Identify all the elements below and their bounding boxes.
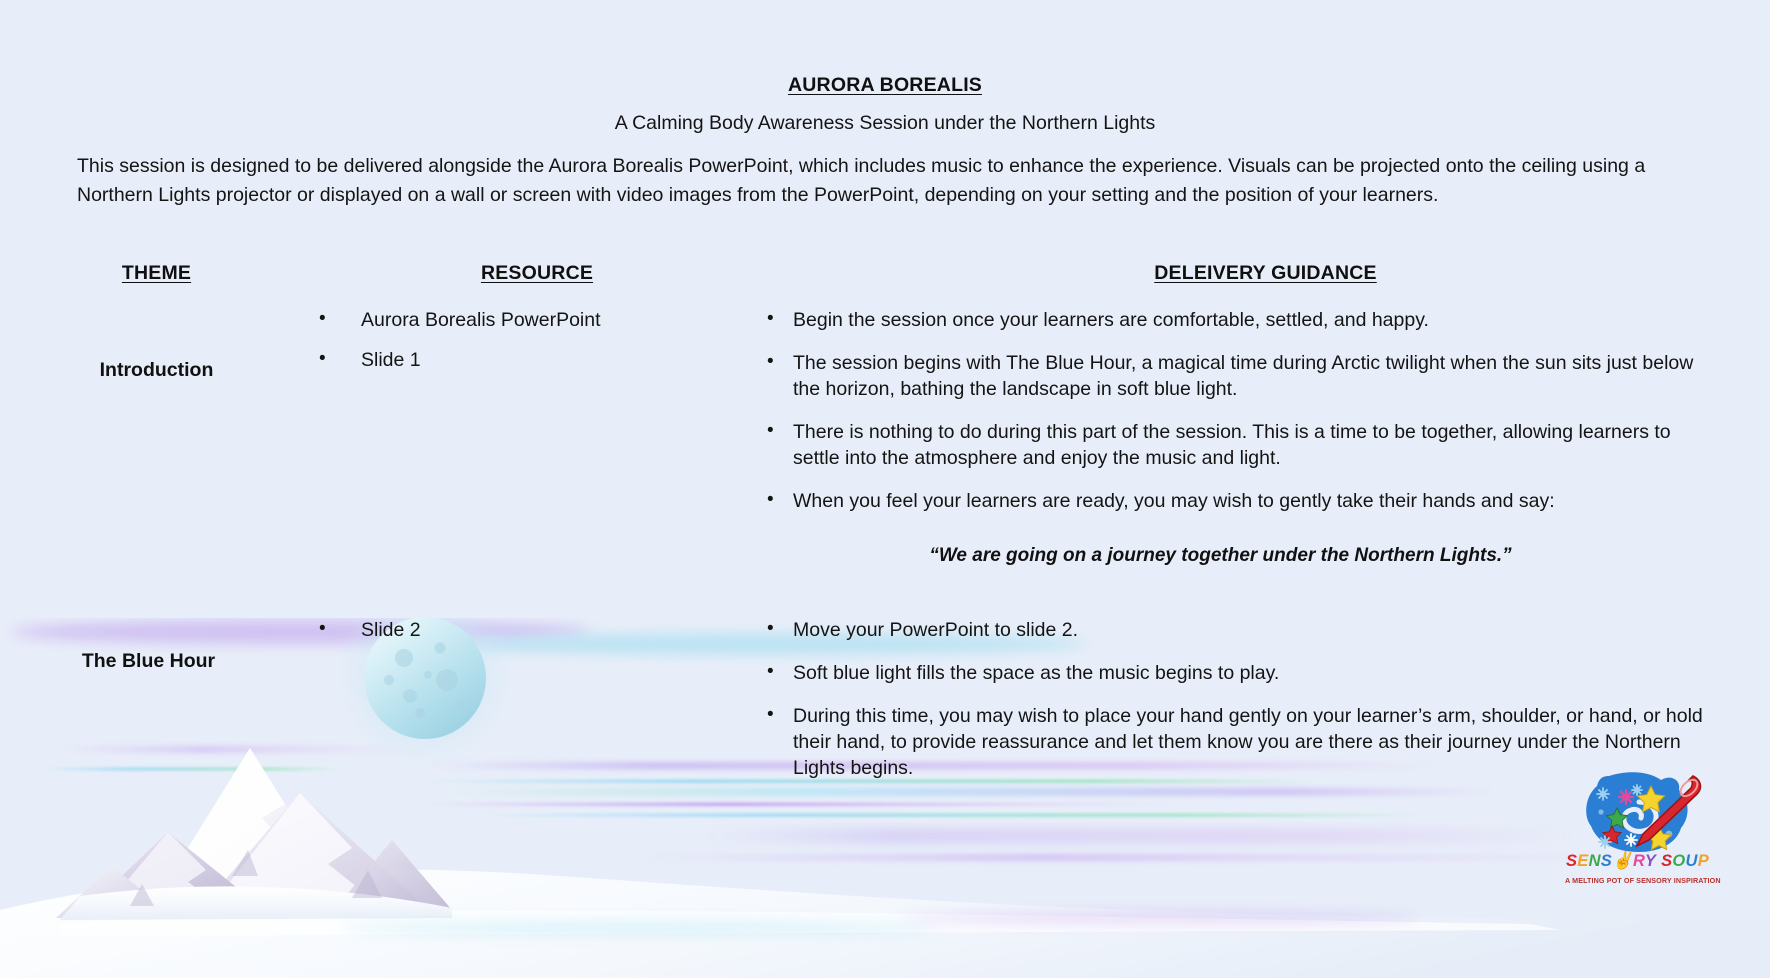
- guidance-cell: Begin the session once your learners are…: [761, 307, 1770, 569]
- session-plan-table: THEME RESOURCE DELEIVERY GUIDANCE Introd…: [0, 262, 1770, 798]
- column-header-theme-text: THEME: [122, 262, 191, 284]
- theme-label: The Blue Hour: [0, 617, 313, 673]
- column-header-guidance-text: DELEIVERY GUIDANCE: [1154, 262, 1376, 284]
- snowflake-b: [1632, 785, 1642, 795]
- list-item: When you feel your learners are ready, y…: [761, 488, 1720, 514]
- list-item: There is nothing to do during this part …: [761, 419, 1720, 471]
- pink-flower-snowflake: [1619, 790, 1633, 804]
- theme-cell: The Blue Hour: [0, 617, 313, 673]
- theme-cell: Introduction: [0, 307, 313, 382]
- resource-cell: Aurora Borealis PowerPoint Slide 1: [313, 307, 761, 387]
- slide-canvas: AURORA BOREALIS A Calming Body Awareness…: [0, 0, 1770, 978]
- column-header-guidance: DELEIVERY GUIDANCE: [761, 262, 1770, 285]
- table-row: Introduction Aurora Borealis PowerPoint …: [0, 307, 1770, 569]
- table-row: The Blue Hour Slide 2 Move your PowerPoi…: [0, 617, 1770, 798]
- soup-pot-icon: [1565, 768, 1710, 856]
- list-item: The session begins with The Blue Hour, a…: [761, 350, 1720, 402]
- logo-tagline: A MELTING POT OF SENSORY INSPIRATION: [1565, 876, 1710, 885]
- list-item: Slide 2: [313, 617, 761, 643]
- list-item: Begin the session once your learners are…: [761, 307, 1720, 333]
- column-header-theme: THEME: [0, 262, 313, 285]
- column-header-resource: RESOURCE: [313, 262, 761, 285]
- table-header-row: THEME RESOURCE DELEIVERY GUIDANCE: [0, 262, 1770, 307]
- snowflake-a: [1597, 788, 1609, 800]
- snowflake-c: [1625, 834, 1637, 846]
- list-item: Slide 1: [313, 347, 761, 373]
- document-title-text: AURORA BOREALIS: [788, 74, 982, 96]
- column-header-resource-text: RESOURCE: [481, 262, 593, 284]
- guidance-list: Begin the session once your learners are…: [761, 307, 1720, 514]
- logo-wordmark: SENS✌RY SOUP: [1565, 852, 1710, 871]
- document-subtitle: A Calming Body Awareness Session under t…: [0, 112, 1770, 135]
- guidance-list: Move your PowerPoint to slide 2. Soft bl…: [761, 617, 1720, 781]
- snowflake-d: [1599, 836, 1611, 848]
- resource-list: Slide 2: [313, 617, 761, 643]
- theme-label: Introduction: [0, 307, 313, 382]
- hand-print-icon: ✌: [1612, 852, 1633, 870]
- document-title: AURORA BOREALIS: [0, 74, 1770, 97]
- session-script-quote: “We are going on a journey together unde…: [761, 531, 1720, 569]
- sensory-soup-logo: SENS✌RY SOUP A MELTING POT OF SENSORY IN…: [1565, 768, 1710, 898]
- snow-plain: [0, 869, 1770, 978]
- list-item: Move your PowerPoint to slide 2.: [761, 617, 1720, 643]
- list-item: Aurora Borealis PowerPoint: [313, 307, 761, 333]
- resource-cell: Slide 2: [313, 617, 761, 657]
- resource-list: Aurora Borealis PowerPoint Slide 1: [313, 307, 761, 373]
- list-item: Soft blue light fills the space as the m…: [761, 660, 1720, 686]
- intro-paragraph: This session is designed to be delivered…: [77, 152, 1692, 210]
